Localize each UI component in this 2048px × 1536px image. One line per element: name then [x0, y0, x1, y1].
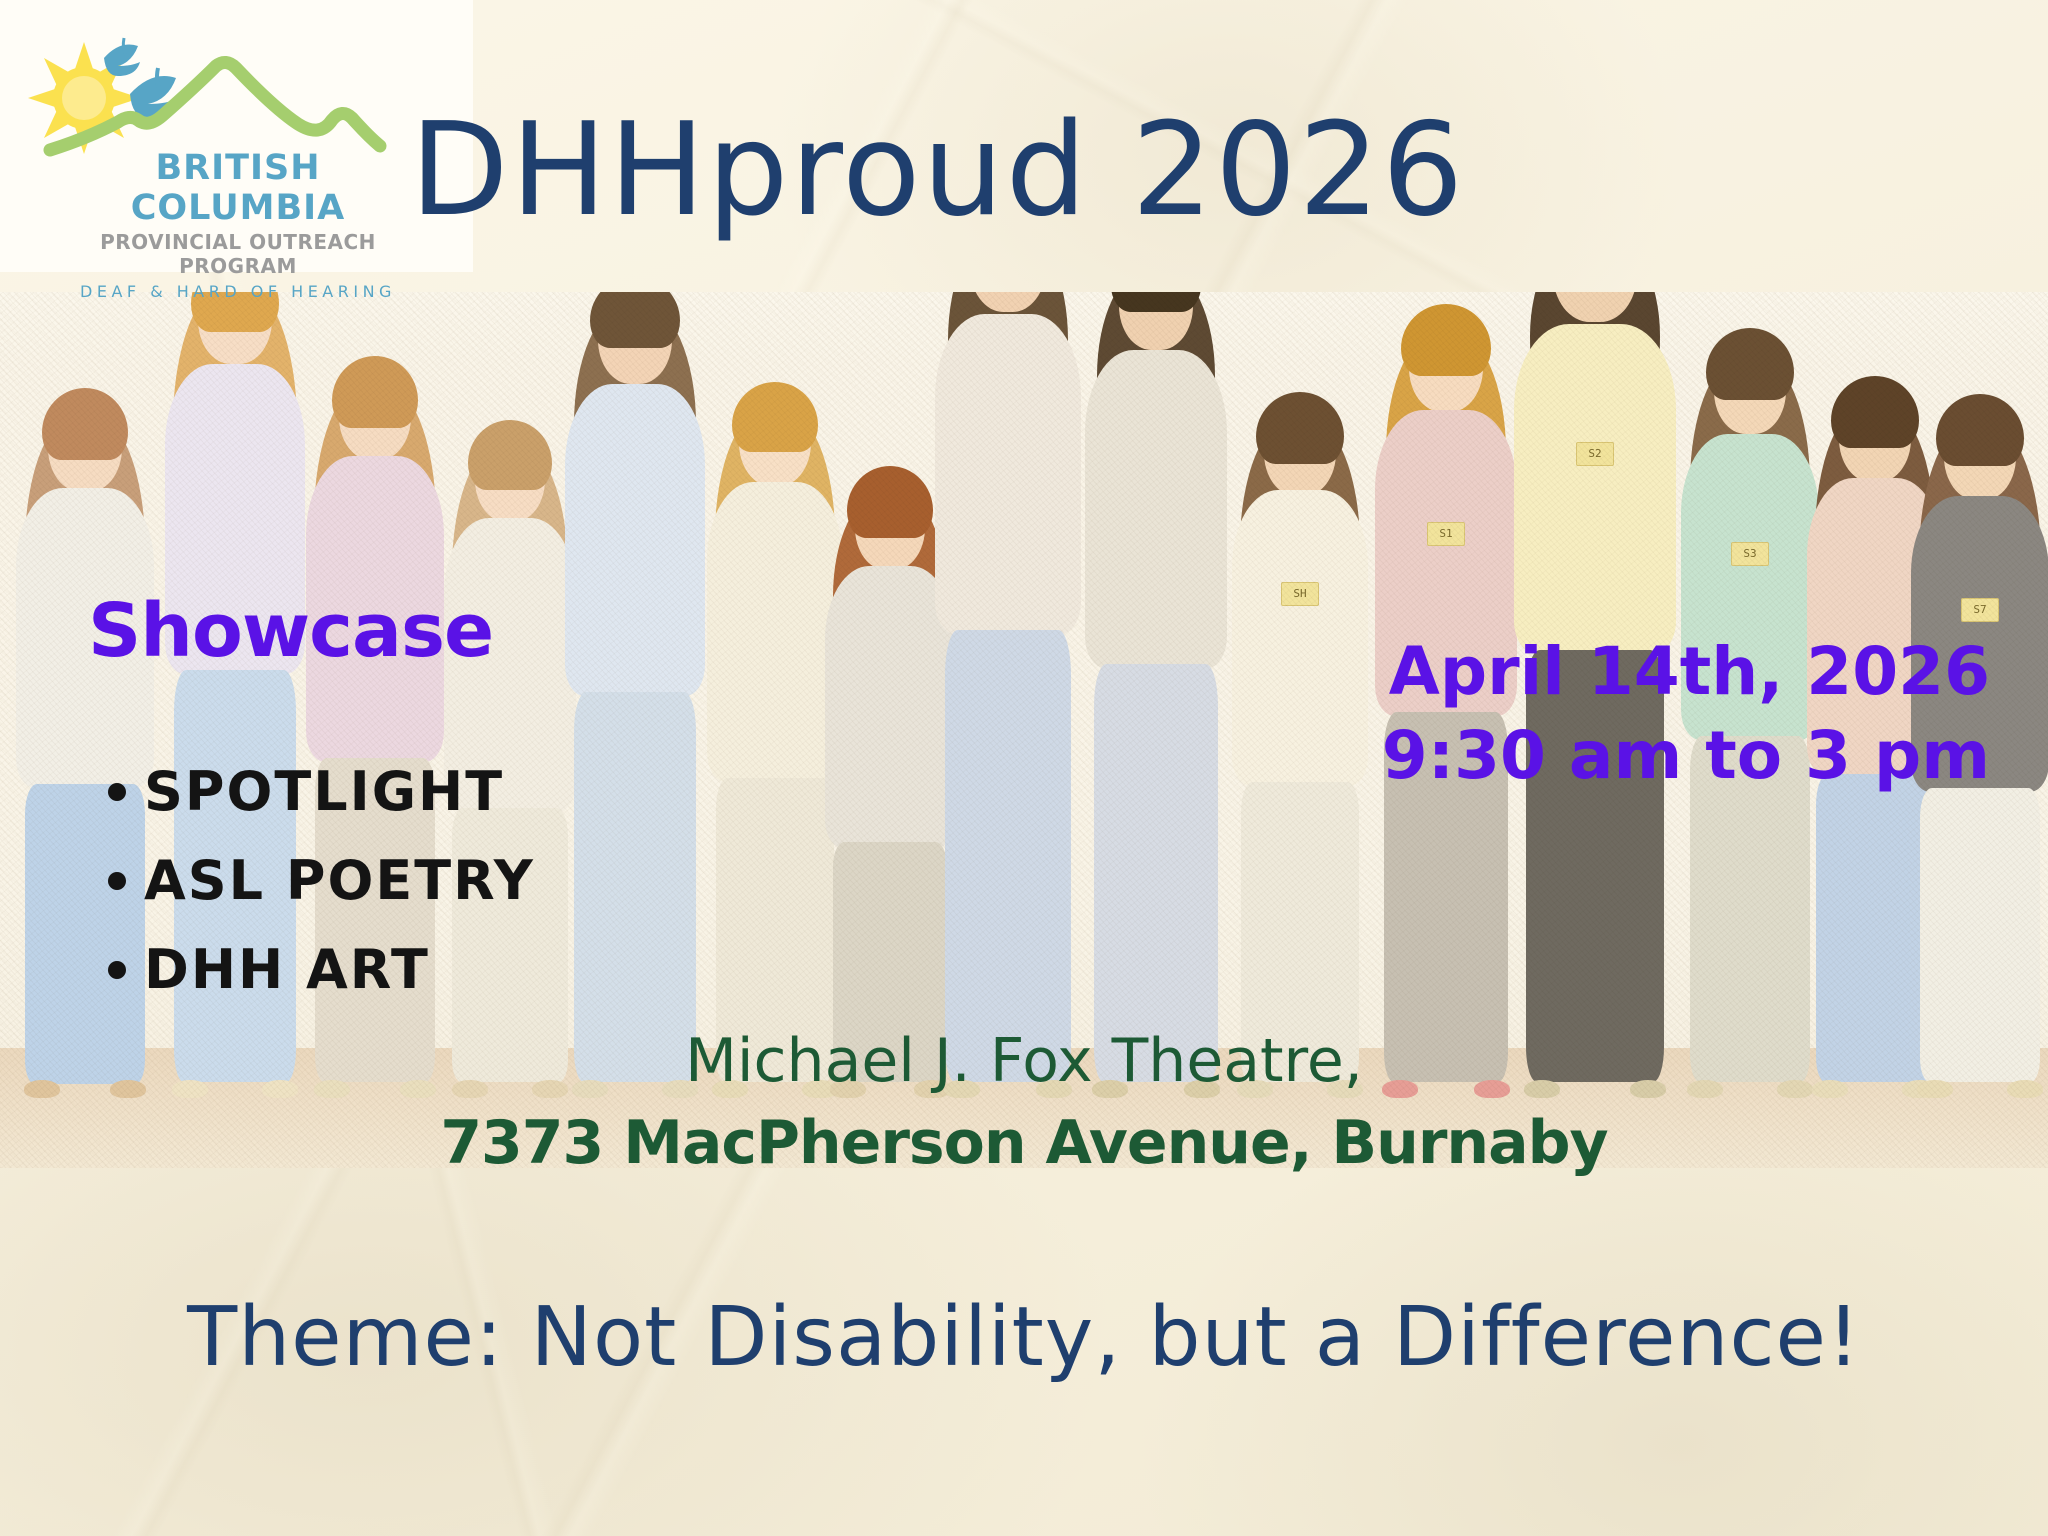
butterfly-icon: [104, 38, 140, 76]
poster-canvas: SH S1 S2: [0, 0, 2048, 1536]
venue-name: Michael J. Fox Theatre,: [0, 1026, 2048, 1096]
event-datetime: April 14th, 2026 9:30 am to 3 pm: [1382, 630, 1990, 799]
bc-outreach-logo: BRITISH COLUMBIA PROVINCIAL OUTREACH PRO…: [0, 0, 473, 272]
logo-org-line2: PROVINCIAL OUTREACH PROGRAM: [48, 230, 428, 278]
list-item: ASL POETRY: [144, 849, 535, 912]
event-venue: Michael J. Fox Theatre, 7373 MacPherson …: [0, 1026, 2048, 1178]
logo-org-line3: DEAF & HARD OF HEARING: [48, 282, 428, 301]
list-item: SPOTLIGHT: [144, 760, 535, 823]
list-item: DHH ART: [144, 938, 535, 1001]
showcase-heading: Showcase: [88, 588, 493, 674]
venue-address: 7373 MacPherson Avenue, Burnaby: [0, 1108, 2048, 1178]
logo-org-line1: BRITISH COLUMBIA: [48, 148, 428, 228]
event-date: April 14th, 2026: [1382, 630, 1990, 714]
page-title: DHHproud 2026: [410, 96, 1970, 245]
event-time: 9:30 am to 3 pm: [1382, 714, 1990, 798]
showcase-list: SPOTLIGHT ASL POETRY DHH ART: [100, 760, 535, 1027]
theme-line: Theme: Not Disability, but a Difference!: [0, 1290, 2048, 1385]
